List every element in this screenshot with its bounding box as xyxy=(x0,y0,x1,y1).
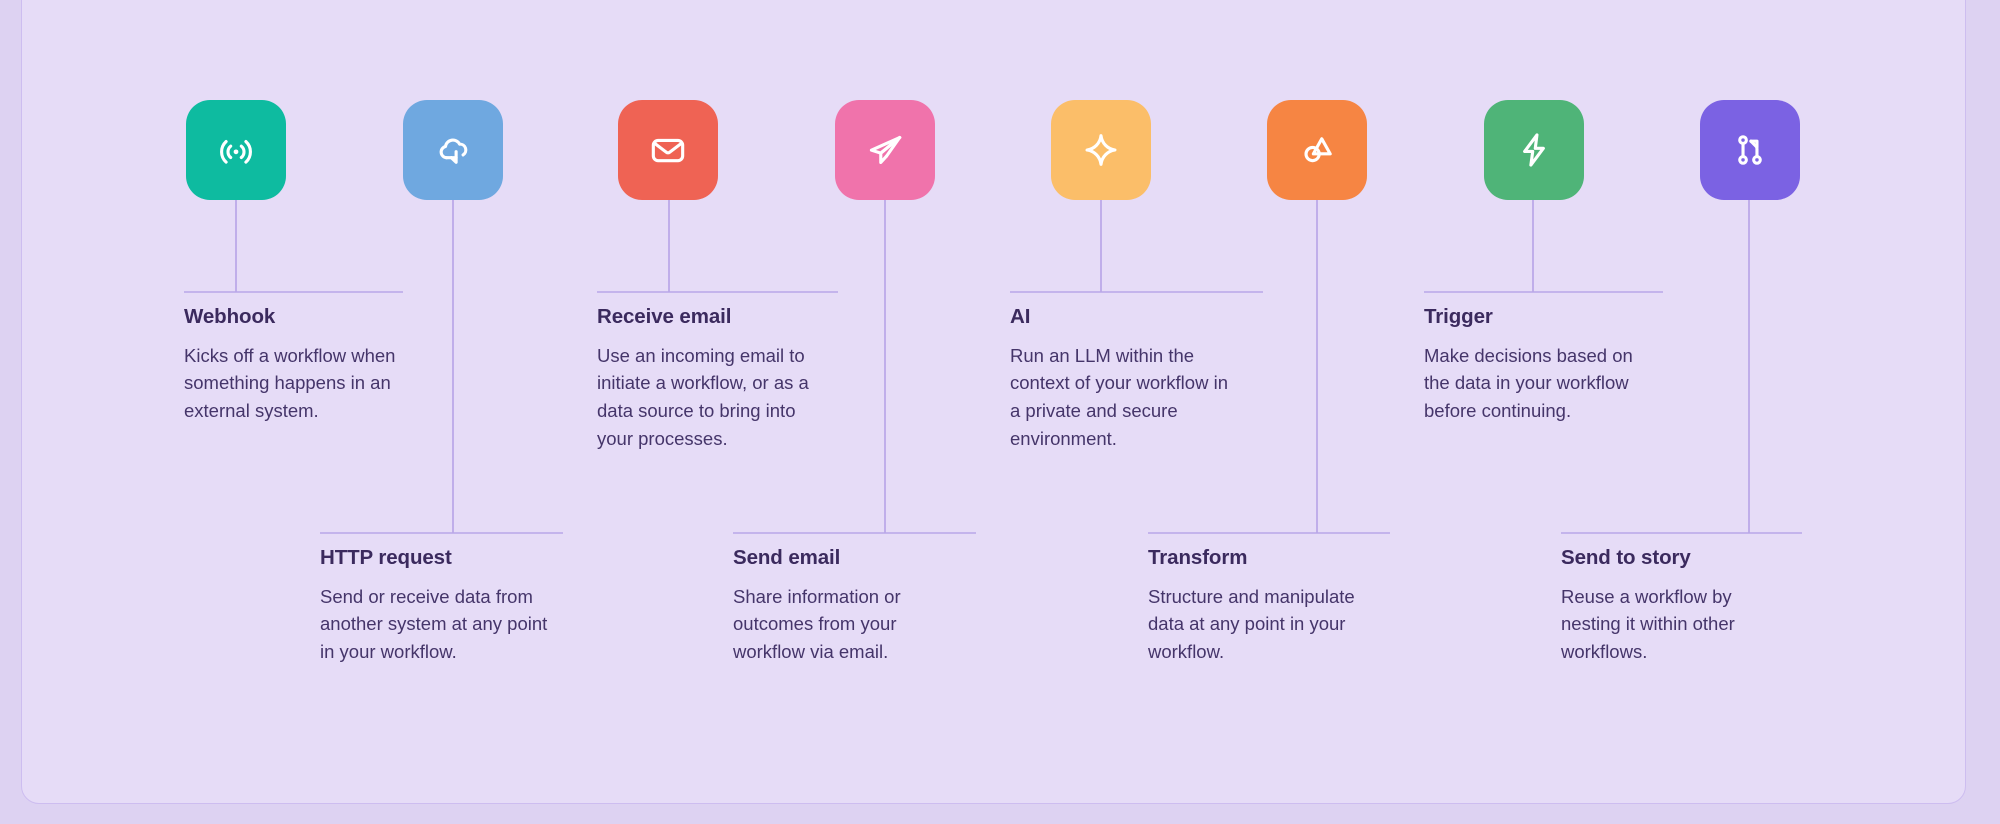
node-description: Kicks off a workflow when something happ… xyxy=(184,342,414,425)
node-card-receive-email: Receive email Use an incoming email to i… xyxy=(597,305,827,453)
shapes-icon xyxy=(1295,128,1339,172)
node-title: AI xyxy=(1010,305,1240,330)
node-description: Send or receive data from another system… xyxy=(320,583,550,666)
diagram-canvas: Webhook Kicks off a workflow when someth… xyxy=(0,0,2000,824)
branch-icon xyxy=(1728,128,1772,172)
node-tile-trigger[interactable] xyxy=(1484,100,1584,200)
node-title: HTTP request xyxy=(320,546,550,571)
envelope-icon xyxy=(646,128,690,172)
lightning-bolt-icon xyxy=(1512,128,1556,172)
node-title: Send email xyxy=(733,546,963,571)
node-tile-transform[interactable] xyxy=(1267,100,1367,200)
node-card-webhook: Webhook Kicks off a workflow when someth… xyxy=(184,305,414,425)
node-title: Transform xyxy=(1148,546,1378,571)
node-title: Trigger xyxy=(1424,305,1654,330)
node-description: Run an LLM within the context of your wo… xyxy=(1010,342,1240,453)
node-title: Receive email xyxy=(597,305,827,330)
node-description: Structure and manipulate data at any poi… xyxy=(1148,583,1378,666)
node-description: Use an incoming email to initiate a work… xyxy=(597,342,827,453)
node-description: Make decisions based on the data in your… xyxy=(1424,342,1654,425)
paper-plane-icon xyxy=(863,128,907,172)
node-tile-http-request[interactable] xyxy=(403,100,503,200)
node-tile-ai[interactable] xyxy=(1051,100,1151,200)
broadcast-icon xyxy=(214,128,258,172)
sparkle-icon xyxy=(1079,128,1123,172)
node-description: Share information or outcomes from your … xyxy=(733,583,963,666)
node-card-ai: AI Run an LLM within the context of your… xyxy=(1010,305,1240,453)
node-tile-send-email[interactable] xyxy=(835,100,935,200)
node-card-http-request: HTTP request Send or receive data from a… xyxy=(320,546,550,666)
node-description: Reuse a workflow by nesting it within ot… xyxy=(1561,583,1791,666)
node-title: Webhook xyxy=(184,305,414,330)
node-tile-send-to-story[interactable] xyxy=(1700,100,1800,200)
node-card-send-email: Send email Share information or outcomes… xyxy=(733,546,963,666)
node-card-send-to-story: Send to story Reuse a workflow by nestin… xyxy=(1561,546,1791,666)
node-card-trigger: Trigger Make decisions based on the data… xyxy=(1424,305,1654,425)
node-title: Send to story xyxy=(1561,546,1791,571)
node-tile-receive-email[interactable] xyxy=(618,100,718,200)
node-card-transform: Transform Structure and manipulate data … xyxy=(1148,546,1378,666)
node-tile-webhook[interactable] xyxy=(186,100,286,200)
cloud-chat-icon xyxy=(431,128,475,172)
